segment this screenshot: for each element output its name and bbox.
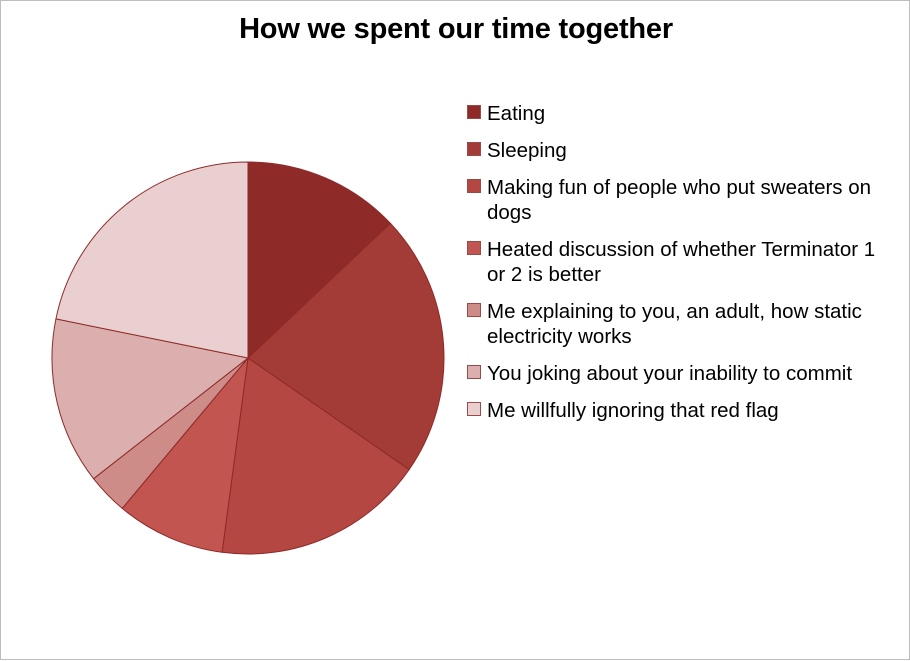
legend-item-label: Me willfully ignoring that red flag <box>487 398 779 423</box>
legend-item[interactable]: Eating <box>467 101 907 126</box>
legend-item-label: You joking about your inability to commi… <box>487 361 852 386</box>
pie-chart-plot-area <box>1 1 471 661</box>
legend-item[interactable]: Heated discussion of whether Terminator … <box>467 237 907 287</box>
chart-legend: EatingSleepingMaking fun of people who p… <box>467 101 907 435</box>
legend-color-swatch-icon <box>467 179 481 193</box>
legend-color-swatch-icon <box>467 241 481 255</box>
legend-item-label: Heated discussion of whether Terminator … <box>487 237 887 287</box>
legend-item-label: Me explaining to you, an adult, how stat… <box>487 299 887 349</box>
legend-color-swatch-icon <box>467 365 481 379</box>
legend-item[interactable]: Sleeping <box>467 138 907 163</box>
legend-item-label: Sleeping <box>487 138 567 163</box>
chart-canvas: How we spent our time together EatingSle… <box>0 0 910 660</box>
legend-item-label: Eating <box>487 101 545 126</box>
legend-color-swatch-icon <box>467 105 481 119</box>
legend-item-label: Making fun of people who put sweaters on… <box>487 175 887 225</box>
legend-item[interactable]: You joking about your inability to commi… <box>467 361 907 386</box>
legend-item[interactable]: Making fun of people who put sweaters on… <box>467 175 907 225</box>
legend-color-swatch-icon <box>467 142 481 156</box>
legend-color-swatch-icon <box>467 402 481 416</box>
pie-chart-svg <box>1 1 471 661</box>
pie-slice-group <box>52 162 444 554</box>
legend-item[interactable]: Me willfully ignoring that red flag <box>467 398 907 423</box>
legend-color-swatch-icon <box>467 303 481 317</box>
legend-item[interactable]: Me explaining to you, an adult, how stat… <box>467 299 907 349</box>
